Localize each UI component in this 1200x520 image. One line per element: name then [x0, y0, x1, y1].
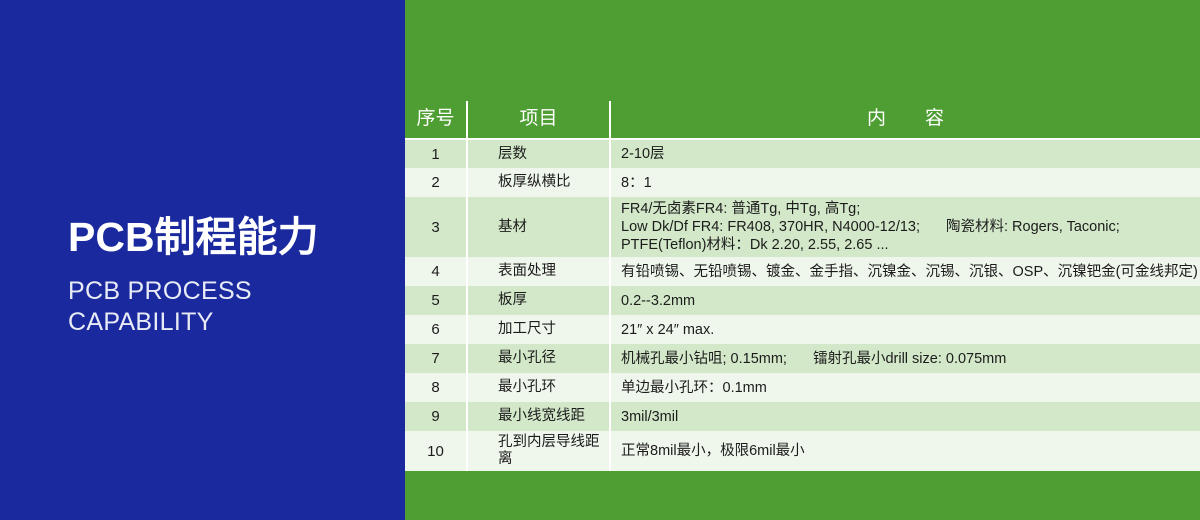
cell-no: 3: [405, 197, 467, 257]
content-line: 0.2--3.2mm: [621, 292, 1198, 310]
cell-content: 正常8mil最小，极限6mil最小: [610, 431, 1200, 471]
cell-item: 板厚纵横比: [467, 168, 610, 197]
content-line: 正常8mil最小，极限6mil最小: [621, 442, 1198, 460]
slide-root: PCB制程能力 PCB PROCESS CAPABILITY 序号 项目 内 容: [0, 0, 1200, 520]
pcb-capability-table: 序号 项目 内 容 1 层数 2-10层 2 板厚纵横比 8：: [405, 101, 1200, 471]
content-line: 8：1: [621, 174, 1198, 192]
table-row: 6 加工尺寸 21″ x 24″ max.: [405, 315, 1200, 344]
cell-item: 孔到内层导线距离: [467, 431, 610, 471]
content-line: 3mil/3mil: [621, 408, 1198, 426]
cell-content: 8：1: [610, 168, 1200, 197]
cell-item: 层数: [467, 139, 610, 168]
table-row: 2 板厚纵横比 8：1: [405, 168, 1200, 197]
table-row: 7 最小孔径 机械孔最小钻咀; 0.15mm;镭射孔最小drill size: …: [405, 344, 1200, 373]
cell-no: 2: [405, 168, 467, 197]
cell-item: 最小线宽线距: [467, 402, 610, 431]
column-header-no: 序号: [405, 101, 467, 139]
cell-item: 表面处理: [467, 257, 610, 286]
content-text: 陶瓷材料: Rogers, Taconic;: [946, 219, 1120, 235]
brand-block: PCB制程能力 PCB PROCESS CAPABILITY: [68, 212, 398, 338]
cell-no: 5: [405, 286, 467, 315]
content-line: PTFE(Teflon)材料：Dk 2.20, 2.55, 2.65 ...: [621, 236, 1198, 254]
table-row: 1 层数 2-10层: [405, 139, 1200, 168]
content-text: 机械孔最小钻咀; 0.15mm;: [621, 351, 787, 367]
cell-item: 最小孔环: [467, 373, 610, 402]
cell-no: 4: [405, 257, 467, 286]
table-row: 9 最小线宽线距 3mil/3mil: [405, 402, 1200, 431]
table-row: 4 表面处理 有铅喷锡、无铅喷锡、镀金、金手指、沉镍金、沉锡、沉银、OSP、沉镍…: [405, 257, 1200, 286]
table-row: 3 基材 FR4/无卤素FR4: 普通Tg, 中Tg, 高Tg; Low Dk/…: [405, 197, 1200, 257]
content-line: 单边最小孔环：0.1mm: [621, 379, 1198, 397]
cell-content: 3mil/3mil: [610, 402, 1200, 431]
page-subtitle: PCB PROCESS CAPABILITY: [68, 276, 398, 338]
page-title: PCB制程能力: [68, 212, 398, 262]
content-line: Low Dk/Df FR4: FR408, 370HR, N4000-12/13…: [621, 218, 1198, 236]
table-row: 10 孔到内层导线距离 正常8mil最小，极限6mil最小: [405, 431, 1200, 471]
cell-no: 7: [405, 344, 467, 373]
content-line: 机械孔最小钻咀; 0.15mm;镭射孔最小drill size: 0.075mm: [621, 350, 1198, 368]
table-row: 5 板厚 0.2--3.2mm: [405, 286, 1200, 315]
cell-no: 9: [405, 402, 467, 431]
column-header-item: 项目: [467, 101, 610, 139]
cell-item: 加工尺寸: [467, 315, 610, 344]
table-header-row: 序号 项目 内 容: [405, 101, 1200, 139]
cell-item: 最小孔径: [467, 344, 610, 373]
title-panel: PCB制程能力 PCB PROCESS CAPABILITY: [0, 0, 405, 520]
table-header: 序号 项目 内 容: [405, 101, 1200, 139]
cell-no: 1: [405, 139, 467, 168]
content-line: 有铅喷锡、无铅喷锡、镀金、金手指、沉镍金、沉锡、沉银、OSP、沉镍钯金(可金线邦…: [621, 263, 1198, 281]
table-row: 8 最小孔环 单边最小孔环：0.1mm: [405, 373, 1200, 402]
content-panel: 序号 项目 内 容 1 层数 2-10层 2 板厚纵横比 8：: [405, 0, 1200, 520]
cell-content: FR4/无卤素FR4: 普通Tg, 中Tg, 高Tg; Low Dk/Df FR…: [610, 197, 1200, 257]
cell-content: 2-10层: [610, 139, 1200, 168]
table-body: 1 层数 2-10层 2 板厚纵横比 8：1 3 基材: [405, 139, 1200, 471]
page-subtitle-line-1: PCB PROCESS: [68, 276, 398, 307]
cell-no: 6: [405, 315, 467, 344]
cell-content: 0.2--3.2mm: [610, 286, 1200, 315]
cell-no: 10: [405, 431, 467, 471]
cell-content: 有铅喷锡、无铅喷锡、镀金、金手指、沉镍金、沉锡、沉银、OSP、沉镍钯金(可金线邦…: [610, 257, 1200, 286]
content-text: Low Dk/Df FR4: FR408, 370HR, N4000-12/13…: [621, 219, 920, 235]
cell-content: 21″ x 24″ max.: [610, 315, 1200, 344]
page-subtitle-line-2: CAPABILITY: [68, 307, 398, 338]
content-line: 2-10层: [621, 145, 1198, 163]
cell-content: 机械孔最小钻咀; 0.15mm;镭射孔最小drill size: 0.075mm: [610, 344, 1200, 373]
cell-content: 单边最小孔环：0.1mm: [610, 373, 1200, 402]
content-text: 镭射孔最小drill size: 0.075mm: [813, 351, 1006, 367]
content-line: FR4/无卤素FR4: 普通Tg, 中Tg, 高Tg;: [621, 200, 1198, 218]
content-line: 21″ x 24″ max.: [621, 321, 1198, 339]
cell-item: 基材: [467, 197, 610, 257]
cell-item: 板厚: [467, 286, 610, 315]
cell-no: 8: [405, 373, 467, 402]
column-header-content: 内 容: [610, 101, 1200, 139]
